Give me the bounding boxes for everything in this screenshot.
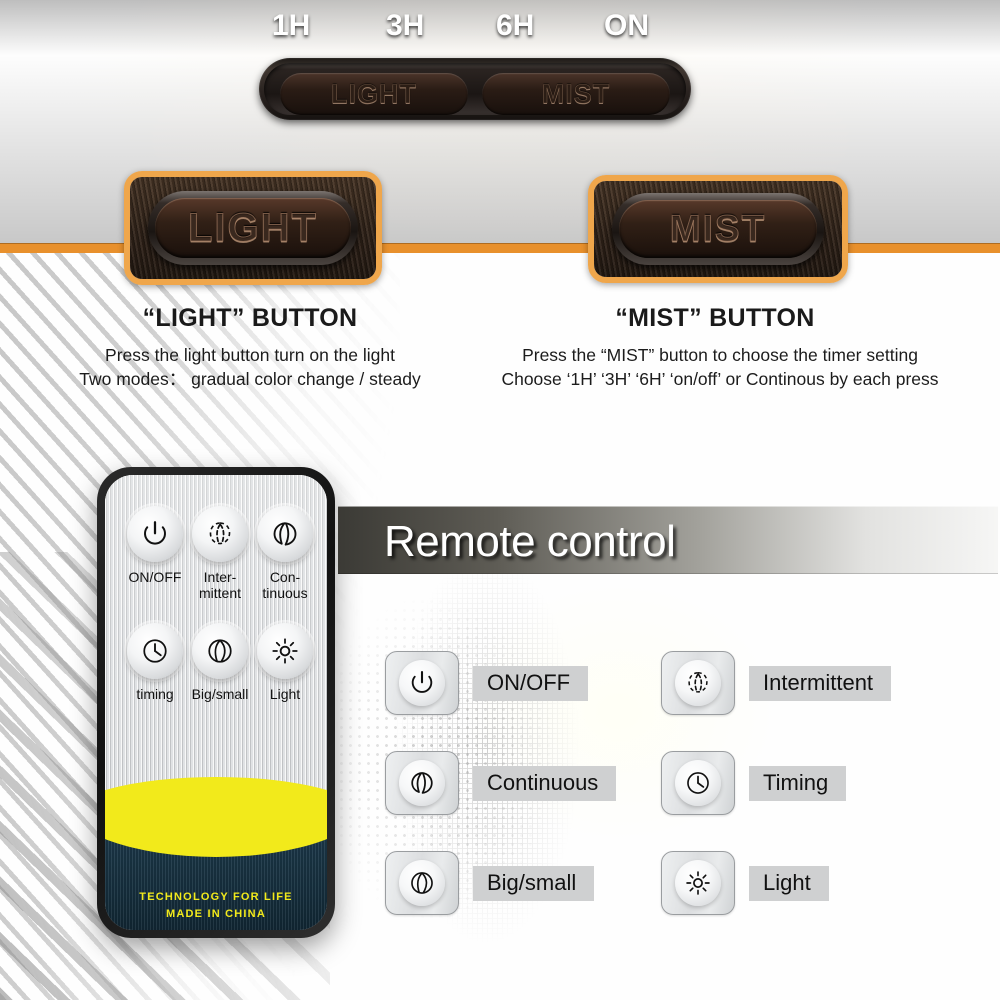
clock-icon xyxy=(140,636,170,666)
timer-label-6h: 6H xyxy=(496,9,534,43)
legend-box-intermittent xyxy=(661,651,735,715)
legend-knob-light xyxy=(675,860,721,906)
callout-light-button-face: LIGHT xyxy=(155,198,351,258)
legend-knob-big-small xyxy=(399,860,445,906)
callout-light-button: LIGHT xyxy=(124,171,382,285)
legend-knob-timing xyxy=(675,760,721,806)
light-section-desc-line1: Press the light button turn on the light xyxy=(40,343,460,367)
device-control-bar: LIGHT MIST xyxy=(259,58,691,120)
bigsmall-icon xyxy=(408,869,436,897)
continuous-icon xyxy=(408,769,436,797)
remote-button-continuous[interactable] xyxy=(257,506,313,562)
legend-item-light[interactable]: Light xyxy=(661,851,829,915)
mist-section-desc-line2: Choose ‘1H’ ‘3H’ ‘6H’ ‘on/off’ or Contin… xyxy=(470,367,970,391)
legend-box-continuous xyxy=(385,751,459,815)
remote-brand-line2: MADE IN CHINA xyxy=(105,908,327,920)
control-bar-inner: LIGHT MIST xyxy=(264,63,686,115)
power-icon xyxy=(140,519,170,549)
remote-control-device: TECHNOLOGY FOR LIFE MADE IN CHINA xyxy=(97,467,335,938)
legend-item-continuous[interactable]: Continuous xyxy=(385,751,616,815)
legend-item-intermittent[interactable]: Intermittent xyxy=(661,651,891,715)
remote-button-on-off[interactable] xyxy=(127,506,183,562)
bigsmall-icon xyxy=(205,636,235,666)
legend-box-big-small xyxy=(385,851,459,915)
legend-label-light: Light xyxy=(749,866,829,901)
legend-knob-continuous xyxy=(399,760,445,806)
legend-label-timing: Timing xyxy=(749,766,846,801)
remote-navy-panel: TECHNOLOGY FOR LIFE MADE IN CHINA xyxy=(105,827,327,930)
continuous-icon xyxy=(270,519,300,549)
callout-light-button-shape[interactable]: LIGHT xyxy=(148,191,358,265)
callout-mist-button-label: MIST xyxy=(670,208,766,250)
legend-box-on-off xyxy=(385,651,459,715)
legend-label-big-small: Big/small xyxy=(473,866,594,901)
legend-box-light xyxy=(661,851,735,915)
callout-mist-button-face: MIST xyxy=(619,200,817,258)
callout-mist-button-shape[interactable]: MIST xyxy=(612,193,824,265)
callout-mist-button: MIST xyxy=(588,175,848,283)
callout-light-button-label: LIGHT xyxy=(188,206,318,251)
light-section-desc-line2: Two modes： gradual color change / steady xyxy=(40,367,460,391)
mist-section-title: “MIST” BUTTON xyxy=(520,304,910,333)
legend-item-timing[interactable]: Timing xyxy=(661,751,846,815)
legend-box-timing xyxy=(661,751,735,815)
legend-label-continuous: Continuous xyxy=(473,766,616,801)
product-infographic: 1H 3H 6H ON LIGHT MIST LIGHT MIST xyxy=(0,0,1000,1000)
remote-button-big-small[interactable] xyxy=(192,623,248,679)
light-section-title: “LIGHT” BUTTON xyxy=(60,304,440,333)
device-mist-button-label: MIST xyxy=(542,79,611,110)
device-light-button-label: LIGHT xyxy=(331,79,417,110)
remote-control-banner: Remote control xyxy=(338,506,998,574)
legend-item-on-off[interactable]: ON/OFF xyxy=(385,651,588,715)
remote-button-intermittent[interactable] xyxy=(192,506,248,562)
intermittent-icon xyxy=(205,519,235,549)
clock-icon xyxy=(684,769,712,797)
device-light-button[interactable]: LIGHT xyxy=(280,73,468,115)
device-mist-button[interactable]: MIST xyxy=(482,73,670,115)
remote-face: TECHNOLOGY FOR LIFE MADE IN CHINA xyxy=(105,475,327,930)
remote-label-continuous: Con- tinuous xyxy=(244,569,326,601)
intermittent-icon xyxy=(684,669,712,697)
timer-label-on: ON xyxy=(604,9,649,43)
mist-section-desc-line1: Press the “MIST” button to choose the ti… xyxy=(480,343,960,367)
legend-knob-intermittent xyxy=(675,660,721,706)
sun-icon xyxy=(684,869,712,897)
timer-label-1h: 1H xyxy=(272,9,310,43)
power-icon xyxy=(408,669,436,697)
legend-knob-on-off xyxy=(399,660,445,706)
legend-label-intermittent: Intermittent xyxy=(749,666,891,701)
legend-item-big-small[interactable]: Big/small xyxy=(385,851,594,915)
remote-button-timing[interactable] xyxy=(127,623,183,679)
timer-label-3h: 3H xyxy=(386,9,424,43)
remote-label-light: Light xyxy=(244,686,326,702)
remote-brand-line1: TECHNOLOGY FOR LIFE xyxy=(105,891,327,903)
banner-title: Remote control xyxy=(384,517,675,567)
remote-button-light[interactable] xyxy=(257,623,313,679)
sun-icon xyxy=(270,636,300,666)
legend-label-on-off: ON/OFF xyxy=(473,666,588,701)
